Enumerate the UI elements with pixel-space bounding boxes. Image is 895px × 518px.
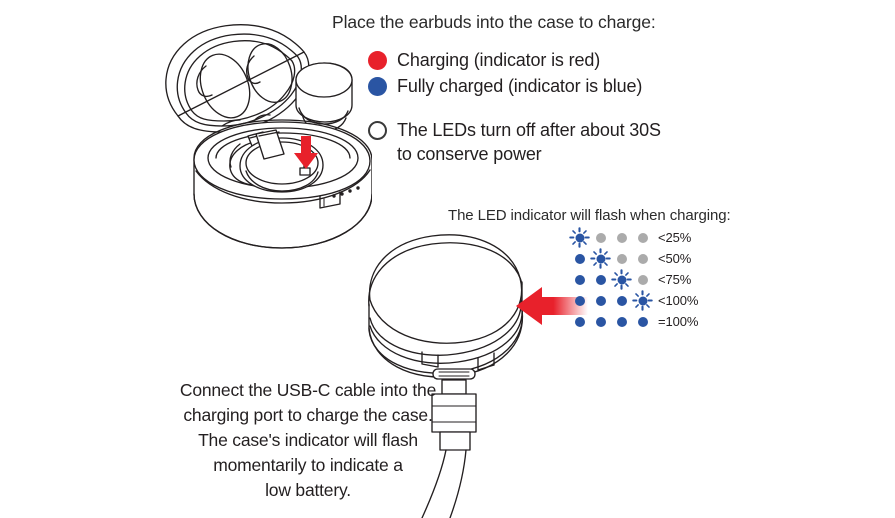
led-flash-grid: <25%<50%<75%<100%=100% [570, 228, 698, 333]
usbc-caption-line-5: low battery. [148, 478, 468, 503]
led-dot-off [633, 228, 652, 247]
led-dot-on [633, 312, 652, 331]
led-row: <50% [570, 249, 698, 268]
legend-item-leds-off: The LEDs turn off after about 30S to con… [368, 118, 661, 166]
led-dot-flash [570, 228, 589, 247]
led-dot-on [570, 312, 589, 331]
led-row-label: <100% [658, 293, 698, 308]
legend-item-charging-label: Charging (indicator is red) [397, 48, 600, 72]
led-row-label: =100% [658, 314, 698, 329]
legend-item-leds-off-label-line2: to conserve power [397, 142, 661, 166]
led-row-label: <50% [658, 251, 691, 266]
usbc-caption-line-4: momentarily to indicate a [148, 453, 468, 478]
led-row: <75% [570, 270, 698, 289]
led-dot-off [633, 249, 652, 268]
legend-item-leds-off-label-line1: The LEDs turn off after about 30S [397, 118, 661, 142]
led-row-label: <75% [658, 272, 691, 287]
led-dot-off [612, 249, 631, 268]
open-earbud-case-illustration [132, 8, 372, 258]
legend-item-fully-charged-label: Fully charged (indicator is blue) [397, 74, 642, 98]
red-dot-icon [368, 51, 387, 70]
usbc-caption-line-2: charging port to charge the case. [148, 403, 468, 428]
led-dot-on [612, 312, 631, 331]
led-row: <25% [570, 228, 698, 247]
legend-item-fully-charged: Fully charged (indicator is blue) [368, 74, 642, 98]
instruction-diagram: Place the earbuds into the case to charg… [0, 0, 895, 515]
usbc-caption: Connect the USB-C cable into the chargin… [148, 378, 468, 503]
led-dot-off [591, 228, 610, 247]
led-dot-flash [591, 249, 610, 268]
led-dot-on [591, 270, 610, 289]
led-dot-off [612, 228, 631, 247]
open-circle-icon [368, 121, 387, 140]
blue-dot-icon [368, 77, 387, 96]
led-dot-flash [612, 270, 631, 289]
led-dot-on [591, 291, 610, 310]
page-title: Place the earbuds into the case to charg… [332, 11, 656, 33]
usbc-caption-line-3: The case's indicator will flash [148, 428, 468, 453]
led-row: =100% [570, 312, 698, 331]
led-dot-on [570, 291, 589, 310]
led-dot-flash [633, 291, 652, 310]
led-dot-on [570, 249, 589, 268]
led-row-label: <25% [658, 230, 691, 245]
led-dot-on [591, 312, 610, 331]
led-dot-on [612, 291, 631, 310]
led-dot-off [633, 270, 652, 289]
red-down-arrow-icon [293, 136, 319, 170]
led-row: <100% [570, 291, 698, 310]
led-dot-on [570, 270, 589, 289]
usbc-caption-line-1: Connect the USB-C cable into the [148, 378, 468, 403]
legend-item-charging: Charging (indicator is red) [368, 48, 600, 72]
